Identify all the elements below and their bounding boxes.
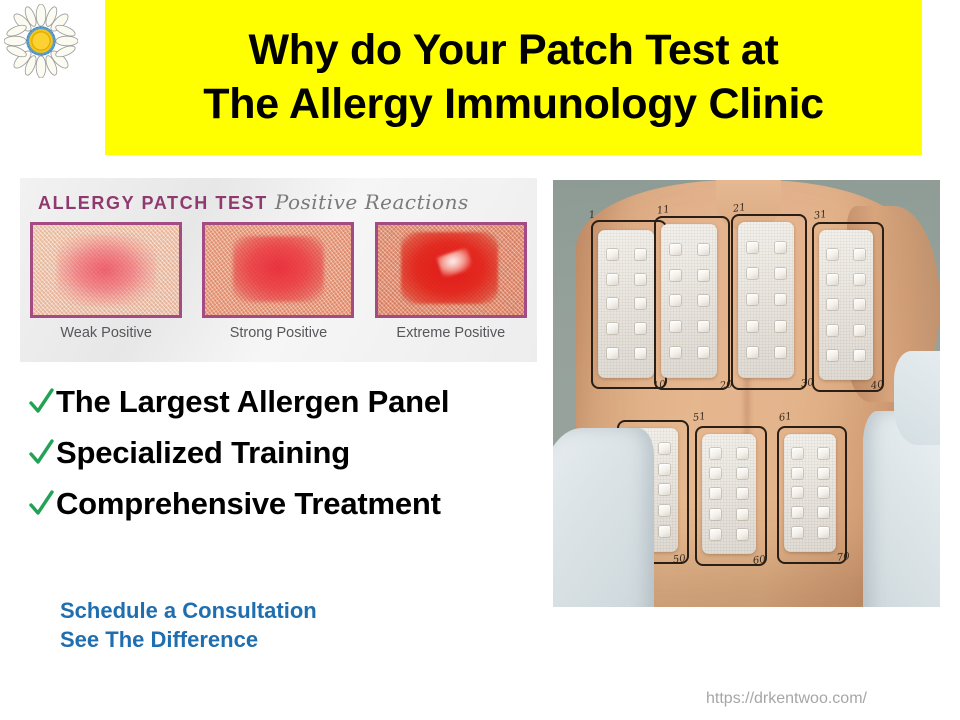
marker-number: 40	[870, 379, 884, 392]
patch-chamber	[747, 347, 758, 358]
check-icon	[28, 387, 54, 417]
benefits-list: The Largest Allergen Panel Specialized T…	[28, 378, 548, 531]
patch-chamber	[827, 299, 838, 310]
patch-chamber	[792, 448, 803, 459]
patch-chamber	[737, 468, 748, 479]
patch-chamber	[670, 270, 681, 281]
patient-back-patch-test-photo: 1 11 10 21 20 31 30 40 50	[553, 180, 940, 607]
skin-reaction-image-strong	[202, 222, 354, 318]
patch-chamber	[607, 249, 618, 260]
patch-strip	[598, 230, 654, 378]
patch-chamber	[607, 348, 618, 359]
patch-chamber	[737, 509, 748, 520]
patch-chamber	[635, 249, 646, 260]
patch-chamber	[635, 298, 646, 309]
patch-chamber	[747, 242, 758, 253]
list-item: Comprehensive Treatment	[28, 480, 548, 527]
patch-chamber	[659, 464, 670, 475]
patch-chamber	[775, 321, 786, 332]
patch-chamber	[698, 270, 709, 281]
patch-chamber	[698, 321, 709, 332]
marker-number: 21	[732, 202, 746, 215]
marker-number: 50	[672, 553, 686, 566]
patch-chamber	[607, 298, 618, 309]
patch-chamber	[792, 527, 803, 538]
patch-strip	[661, 224, 717, 378]
patch-chamber	[854, 274, 865, 285]
patch-chamber	[827, 325, 838, 336]
marker-number: 61	[778, 411, 792, 424]
patch-chamber	[607, 323, 618, 334]
patch-chamber	[818, 448, 829, 459]
list-item: The Largest Allergen Panel	[28, 378, 548, 425]
patch-chamber	[792, 507, 803, 518]
patch-chamber	[827, 350, 838, 361]
patch-chamber	[635, 348, 646, 359]
patch-chamber	[747, 268, 758, 279]
daisy-flower-logo	[4, 4, 78, 78]
patch-chamber	[737, 448, 748, 459]
patch-chamber	[698, 244, 709, 255]
list-item: Specialized Training	[28, 429, 548, 476]
patch-chamber	[737, 529, 748, 540]
page-title-line-1: Why do Your Patch Test at	[248, 24, 778, 78]
swatch-label: Extreme Positive	[375, 325, 527, 341]
footer-url[interactable]: https://drkentwoo.com/	[706, 690, 867, 708]
patch-chamber	[659, 505, 670, 516]
call-to-action[interactable]: Schedule a Consultation See The Differen…	[60, 596, 317, 655]
swatch-label: Strong Positive	[202, 325, 354, 341]
patch-chamber	[818, 487, 829, 498]
skin-reaction-image-weak	[30, 222, 182, 318]
patch-chamber	[818, 507, 829, 518]
swatch-label: Weak Positive	[30, 325, 182, 341]
cta-line-schedule[interactable]: Schedule a Consultation	[60, 596, 317, 625]
list-item-label: The Largest Allergen Panel	[56, 384, 449, 420]
patch-chamber	[710, 529, 721, 540]
patch-chamber	[659, 484, 670, 495]
marker-number: 51	[692, 411, 706, 424]
reaction-swatch-weak: Weak Positive	[30, 222, 182, 341]
cta-line-difference[interactable]: See The Difference	[60, 625, 317, 654]
patch-chamber	[775, 347, 786, 358]
marker-number: 10	[652, 379, 666, 392]
patch-strip	[784, 434, 836, 552]
patch-chamber	[670, 295, 681, 306]
patch-chamber	[775, 294, 786, 305]
patch-chamber	[854, 249, 865, 260]
patch-chamber	[792, 487, 803, 498]
patch-chamber	[737, 488, 748, 499]
title-banner: Why do Your Patch Test at The Allergy Im…	[105, 0, 922, 155]
patch-chamber	[827, 274, 838, 285]
patch-chamber	[747, 294, 758, 305]
patch-chamber	[698, 295, 709, 306]
marker-number: 31	[813, 209, 827, 222]
patch-chamber	[670, 244, 681, 255]
patch-chamber	[854, 299, 865, 310]
marker-number: 30	[800, 377, 814, 390]
list-item-label: Comprehensive Treatment	[56, 486, 441, 522]
allergy-patch-test-graphic: ALLERGY PATCH TESTPositive Reactions Wea…	[20, 178, 537, 362]
patch-chamber	[747, 321, 758, 332]
patch-chamber	[659, 443, 670, 454]
patch-chamber	[670, 347, 681, 358]
patch-chamber	[827, 249, 838, 260]
patch-chamber	[710, 488, 721, 499]
patch-chamber	[854, 325, 865, 336]
page-title-line-2: The Allergy Immunology Clinic	[203, 78, 823, 132]
surgical-drape-left	[553, 428, 654, 607]
marker-number: 70	[836, 551, 850, 564]
marker-number: 60	[752, 554, 766, 567]
patch-chamber	[775, 242, 786, 253]
marker-number: 20	[719, 379, 733, 392]
patch-chamber	[854, 350, 865, 361]
marker-number: 11	[656, 204, 670, 217]
patch-chamber	[710, 509, 721, 520]
patch-chamber	[635, 323, 646, 334]
patch-chamber	[659, 526, 670, 537]
reaction-swatch-strong: Strong Positive	[202, 222, 354, 341]
patch-chamber	[607, 274, 618, 285]
patch-chamber	[818, 468, 829, 479]
patch-strip	[738, 222, 794, 378]
patch-chamber	[670, 321, 681, 332]
patch-chamber	[698, 347, 709, 358]
patch-chamber	[710, 468, 721, 479]
reaction-swatch-extreme: Extreme Positive	[375, 222, 527, 341]
patch-chamber	[710, 448, 721, 459]
patch-graphic-heading-script: Positive Reactions	[275, 190, 469, 214]
check-icon	[28, 489, 54, 519]
patch-strip	[819, 230, 873, 380]
list-item-label: Specialized Training	[56, 435, 350, 471]
patch-strip	[702, 434, 756, 554]
patch-chamber	[792, 468, 803, 479]
lesion-area	[57, 234, 156, 306]
patch-graphic-heading-bold: ALLERGY PATCH TEST	[38, 193, 268, 213]
patch-chamber	[635, 274, 646, 285]
marker-number: 1	[588, 210, 596, 222]
surgical-drape-right-top	[894, 351, 940, 445]
check-icon	[28, 438, 54, 468]
reaction-swatch-row: Weak Positive Strong Positive Extreme Po…	[20, 222, 537, 341]
lesion-area	[233, 236, 324, 303]
skin-reaction-image-extreme	[375, 222, 527, 318]
patch-graphic-heading: ALLERGY PATCH TESTPositive Reactions	[38, 190, 469, 214]
patch-chamber	[775, 268, 786, 279]
patch-chamber	[818, 527, 829, 538]
